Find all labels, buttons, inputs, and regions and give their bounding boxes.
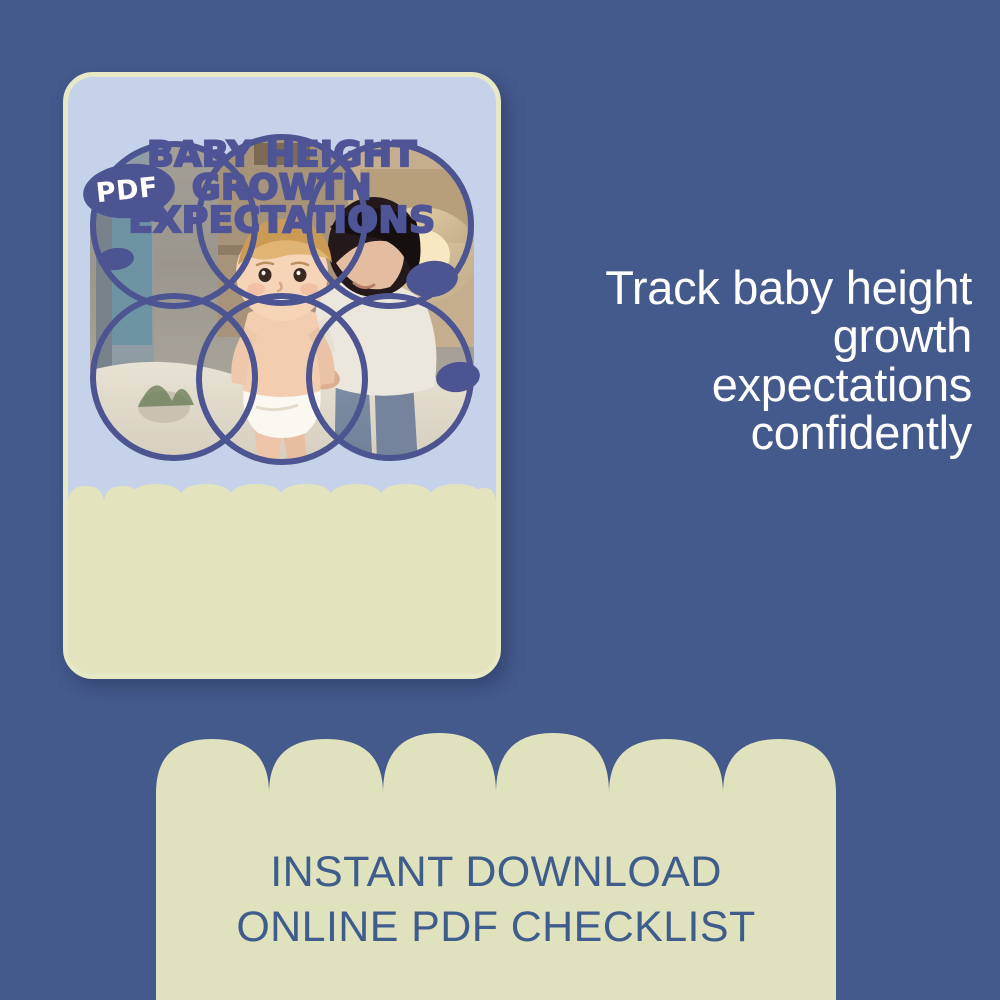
headline-line-2: growth <box>502 312 972 360</box>
poster-canvas: PDF BABY HEIGHT GROWTH EXPECTATIONS Trac… <box>0 0 1000 1000</box>
headline-line-4: confidently <box>502 409 972 457</box>
banner-line-2: ONLINE PDF CHECKLIST <box>156 900 836 955</box>
bottom-banner: INSTANT DOWNLOAD ONLINE PDF CHECKLIST <box>156 733 836 1000</box>
pdf-badge: PDF <box>80 159 190 249</box>
banner-line-1: INSTANT DOWNLOAD <box>156 845 836 900</box>
headline-line-1: Track baby height <box>502 264 972 312</box>
card-scallop-edge <box>68 484 496 528</box>
card-title-panel <box>68 484 496 674</box>
product-card[interactable]: PDF BABY HEIGHT GROWTH EXPECTATIONS <box>63 72 501 679</box>
headline-line-3: expectations <box>502 361 972 409</box>
headline: Track baby height growth expectations co… <box>502 264 972 458</box>
card-panel-body <box>68 524 496 674</box>
banner-scallop-edge <box>156 733 836 848</box>
banner-text: INSTANT DOWNLOAD ONLINE PDF CHECKLIST <box>156 845 836 954</box>
